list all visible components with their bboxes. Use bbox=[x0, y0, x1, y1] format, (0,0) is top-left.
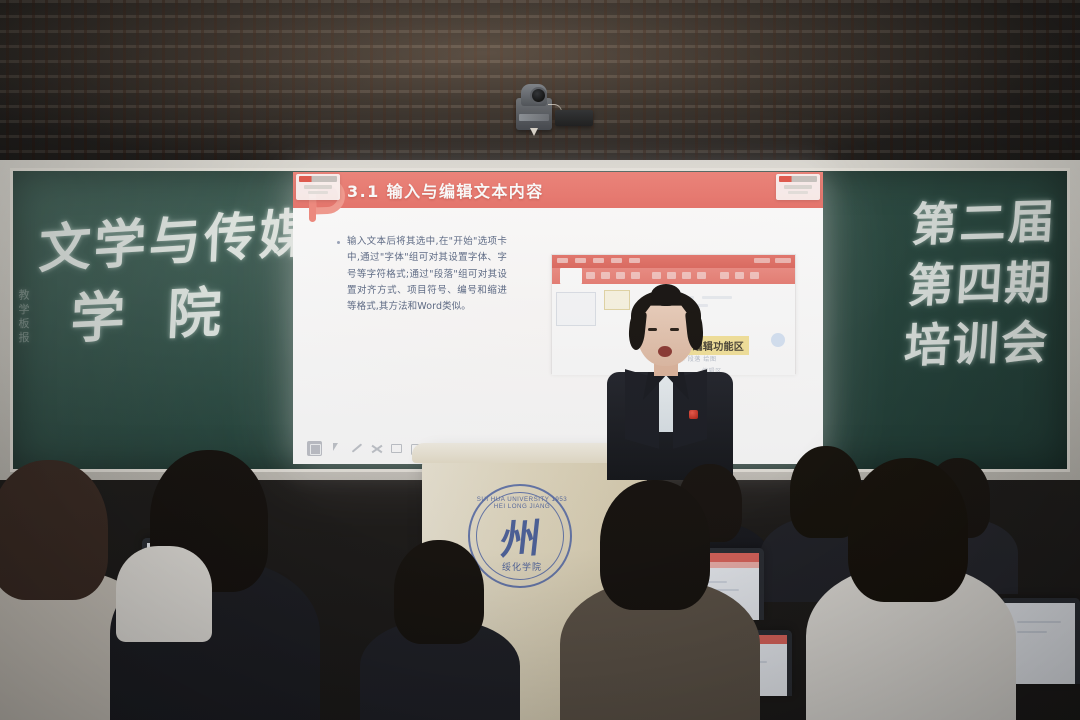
student-hood bbox=[116, 546, 212, 642]
screenshot-active-tab bbox=[560, 268, 582, 284]
presenter-hair-bun bbox=[651, 284, 681, 306]
classroom-scene: 教学板报 文学与传媒 学 院 第二届 第四期 培训会 3.1 输入与编辑文本内容 bbox=[0, 0, 1080, 720]
presenter-eye-left bbox=[648, 328, 657, 331]
presenter-mouth bbox=[658, 346, 672, 357]
student-head bbox=[848, 458, 968, 602]
slide-title-bar: 3.1 输入与编辑文本内容 bbox=[293, 172, 823, 208]
camera-head bbox=[521, 84, 547, 106]
blackboard-right-line2: 第四期 bbox=[906, 252, 1055, 316]
screenshot-ribbon bbox=[552, 268, 795, 284]
screenshot-window-controls bbox=[754, 258, 791, 263]
blackboard-edge-note: 教学板报 bbox=[15, 289, 31, 345]
overlay-bar-3 bbox=[788, 191, 808, 194]
student bbox=[806, 470, 1016, 720]
camera-lens-icon bbox=[530, 87, 547, 104]
slide-title: 3.1 输入与编辑文本内容 bbox=[347, 178, 544, 202]
overlay-bar-3 bbox=[308, 191, 328, 194]
slide-bullet-item: 输入文本后将其选中,在"开始"选项卡中,通过"字体"组可对其设置字体、字号等字符… bbox=[337, 234, 507, 316]
overlay-bar-2 bbox=[784, 185, 812, 189]
blackboard-right-text: 第二届 第四期 培训会 bbox=[902, 191, 1058, 377]
student-head bbox=[0, 460, 108, 600]
overlay-bar-2 bbox=[304, 185, 332, 189]
overlay-bar bbox=[779, 176, 817, 182]
camera-label-strip bbox=[519, 114, 549, 121]
wall-mounted-sensor-box bbox=[555, 110, 593, 126]
screenshot-title-bar bbox=[552, 255, 795, 268]
presenter-eye-right bbox=[670, 328, 679, 331]
blackboard-right-line3: 培训会 bbox=[902, 313, 1051, 377]
ptz-camera-icon bbox=[516, 84, 552, 130]
screenshot-tabs bbox=[557, 258, 640, 263]
laptop-doc-line bbox=[1017, 631, 1047, 633]
screenshot-thumbnail-pane bbox=[556, 292, 596, 326]
student bbox=[110, 455, 320, 720]
overlay-control-right[interactable] bbox=[776, 174, 820, 200]
student bbox=[560, 490, 760, 720]
projected-slide[interactable]: 3.1 输入与编辑文本内容 输入文本后将其选中,在"开始"选项卡中,通过"字体"… bbox=[293, 172, 823, 464]
bullet-dot-icon bbox=[337, 241, 340, 244]
screenshot-badge-icon bbox=[771, 333, 785, 347]
audience-foreground bbox=[0, 430, 1080, 720]
ribbon-group-paragraph bbox=[652, 272, 706, 279]
ribbon-group-drawing bbox=[720, 272, 759, 279]
student-head bbox=[600, 480, 710, 610]
student-head bbox=[394, 540, 484, 644]
presenter-lapel-pin bbox=[689, 410, 698, 419]
blackboard-right-line1: 第二届 bbox=[910, 191, 1059, 255]
student bbox=[360, 560, 520, 720]
blackboard-left-line2: 学 院 bbox=[69, 267, 235, 353]
ribbon-group-font bbox=[586, 272, 640, 279]
overlay-control-left[interactable] bbox=[296, 174, 340, 200]
slide-bullet-text: 输入文本后将其选中,在"开始"选项卡中,通过"字体"组可对其设置字体、字号等字符… bbox=[347, 234, 507, 316]
laptop-doc-line bbox=[1017, 621, 1061, 623]
overlay-bar bbox=[299, 176, 337, 182]
